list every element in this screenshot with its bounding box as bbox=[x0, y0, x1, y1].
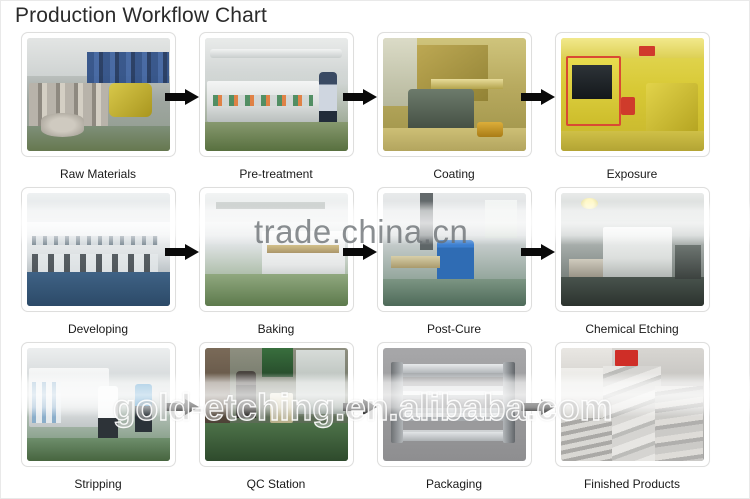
step-card[interactable] bbox=[555, 187, 710, 312]
workflow-step-baking[interactable]: Baking bbox=[187, 187, 365, 336]
right-arrow-icon bbox=[343, 244, 377, 260]
right-arrow-icon bbox=[521, 89, 555, 105]
step-label: Chemical Etching bbox=[585, 322, 678, 336]
exposure-photo bbox=[561, 38, 704, 151]
workflow-step-pre-treatment[interactable]: Pre-treatment bbox=[187, 32, 365, 181]
right-arrow-icon bbox=[343, 399, 377, 415]
step-card[interactable] bbox=[377, 342, 532, 467]
workflow-rows: Raw Materials Pre-treatment bbox=[1, 32, 750, 499]
step-label: Stripping bbox=[74, 477, 121, 491]
step-card[interactable] bbox=[199, 32, 354, 157]
post-cure-photo bbox=[383, 193, 526, 306]
workflow-row-2: Developing Baking bbox=[1, 187, 750, 342]
chemical-etching-photo bbox=[561, 193, 704, 306]
right-arrow-icon bbox=[343, 89, 377, 105]
coating-photo bbox=[383, 38, 526, 151]
step-label: Finished Products bbox=[584, 477, 680, 491]
finished-products-photo bbox=[561, 348, 704, 461]
pre-treatment-photo bbox=[205, 38, 348, 151]
step-card[interactable] bbox=[199, 187, 354, 312]
right-arrow-icon bbox=[521, 399, 555, 415]
stripping-photo bbox=[27, 348, 170, 461]
right-arrow-icon bbox=[165, 244, 199, 260]
page-title: Production Workflow Chart bbox=[15, 3, 267, 29]
step-label: Baking bbox=[258, 322, 295, 336]
step-label: Coating bbox=[433, 167, 474, 181]
developing-photo bbox=[27, 193, 170, 306]
step-label: Packaging bbox=[426, 477, 482, 491]
workflow-step-post-cure[interactable]: Post-Cure bbox=[365, 187, 543, 336]
raw-materials-photo bbox=[27, 38, 170, 151]
step-label: Exposure bbox=[607, 167, 658, 181]
right-arrow-icon bbox=[165, 89, 199, 105]
workflow-row-1: Raw Materials Pre-treatment bbox=[1, 32, 750, 187]
workflow-step-chemical-etching[interactable]: Chemical Etching bbox=[543, 187, 721, 336]
step-label: Developing bbox=[68, 322, 128, 336]
right-arrow-icon bbox=[521, 244, 555, 260]
workflow-step-developing[interactable]: Developing bbox=[9, 187, 187, 336]
step-card[interactable] bbox=[377, 32, 532, 157]
packaging-photo bbox=[383, 348, 526, 461]
workflow-step-raw-materials[interactable]: Raw Materials bbox=[9, 32, 187, 181]
step-card[interactable] bbox=[21, 342, 176, 467]
workflow-step-exposure[interactable]: Exposure bbox=[543, 32, 721, 181]
workflow-step-coating[interactable]: Coating bbox=[365, 32, 543, 181]
step-card[interactable] bbox=[555, 342, 710, 467]
step-card[interactable] bbox=[377, 187, 532, 312]
qc-station-photo bbox=[205, 348, 348, 461]
right-arrow-icon bbox=[165, 399, 199, 415]
step-card[interactable] bbox=[199, 342, 354, 467]
workflow-step-packaging[interactable]: Packaging bbox=[365, 342, 543, 491]
production-workflow-chart: Production Workflow Chart Raw Materials bbox=[0, 0, 750, 499]
step-card[interactable] bbox=[21, 187, 176, 312]
workflow-step-finished-products[interactable]: Finished Products bbox=[543, 342, 721, 491]
step-label: Post-Cure bbox=[427, 322, 481, 336]
step-card[interactable] bbox=[21, 32, 176, 157]
step-label: Raw Materials bbox=[60, 167, 136, 181]
workflow-step-stripping[interactable]: Stripping bbox=[9, 342, 187, 491]
step-card[interactable] bbox=[555, 32, 710, 157]
workflow-step-qc-station[interactable]: QC Station bbox=[187, 342, 365, 491]
step-label: QC Station bbox=[247, 477, 306, 491]
step-label: Pre-treatment bbox=[239, 167, 312, 181]
workflow-row-3: Stripping QC Station bbox=[1, 342, 750, 499]
baking-photo bbox=[205, 193, 348, 306]
